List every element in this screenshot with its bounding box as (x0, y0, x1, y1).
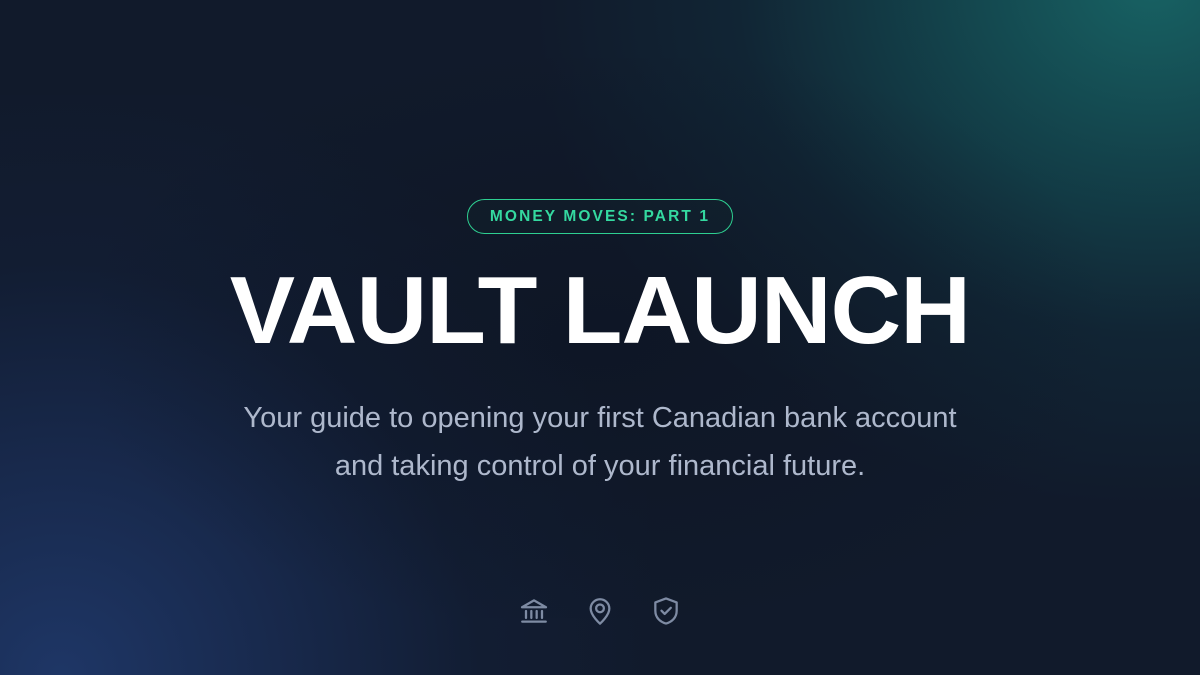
page-title: VAULT LAUNCH (230, 264, 970, 358)
slide-content: MONEY MOVES: PART 1 VAULT LAUNCH Your gu… (0, 0, 1200, 675)
series-badge: MONEY MOVES: PART 1 (467, 199, 733, 234)
page-subtitle: Your guide to opening your first Canadia… (220, 394, 980, 490)
presentation-slide: MONEY MOVES: PART 1 VAULT LAUNCH Your gu… (0, 0, 1200, 675)
series-badge-label: MONEY MOVES: PART 1 (490, 208, 710, 226)
